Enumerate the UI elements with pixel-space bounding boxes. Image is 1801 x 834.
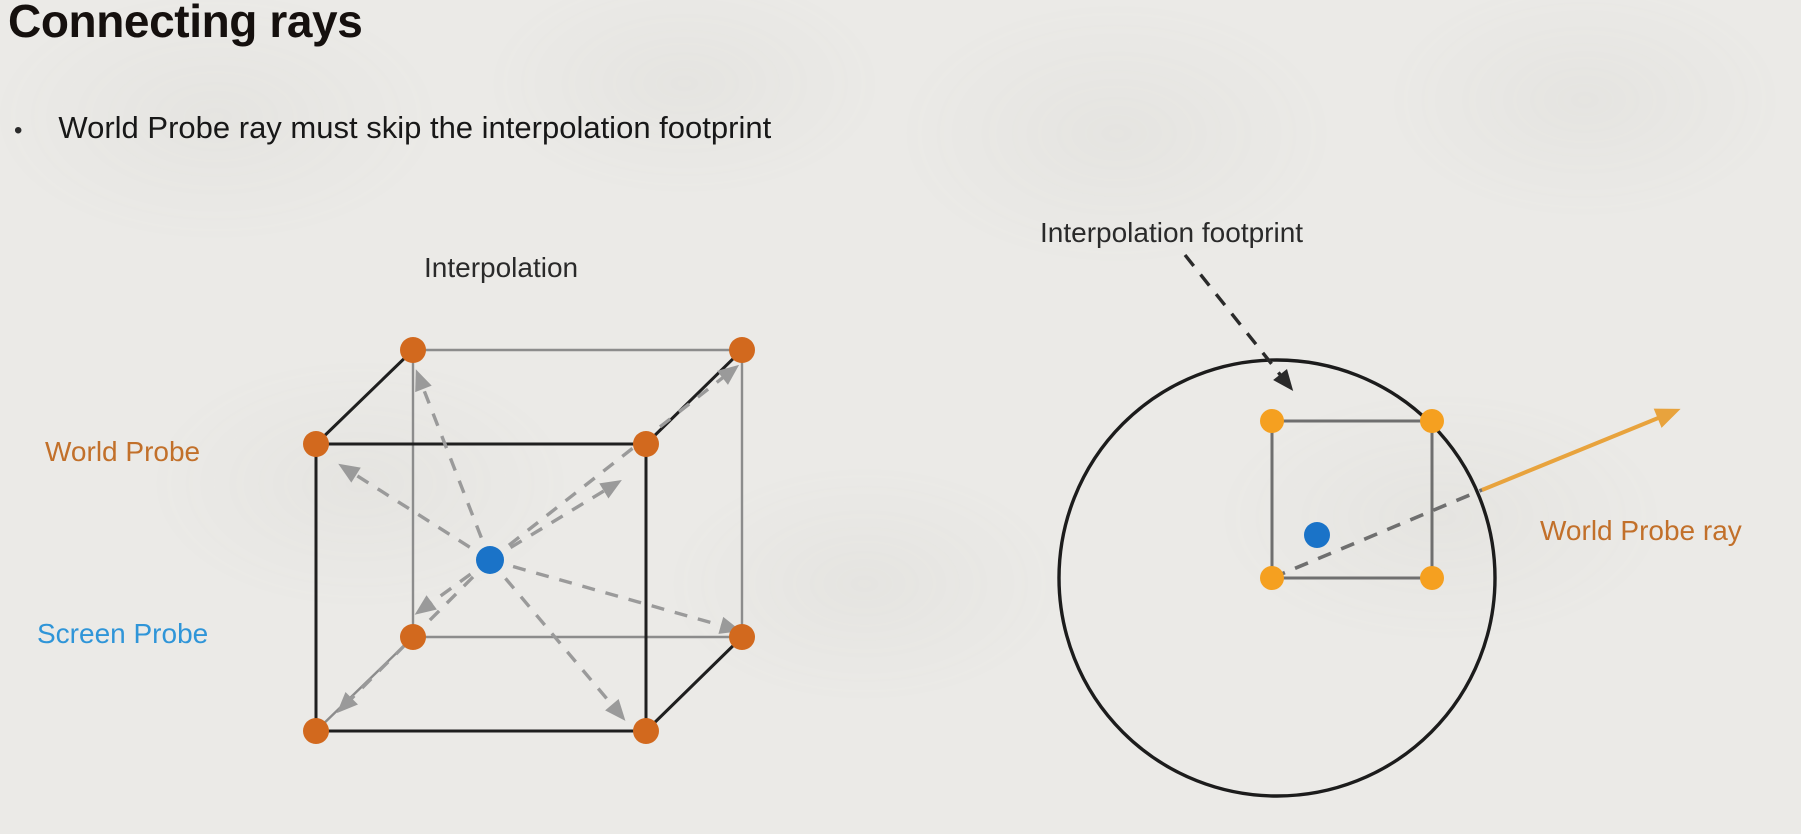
interpolation-ray-set (345, 372, 730, 712)
world-probe-ray-arrow (1482, 414, 1668, 490)
world-probe-dot (729, 337, 755, 363)
world-probe-dot (400, 337, 426, 363)
cube-visible-edges (316, 350, 742, 731)
world-probe-dot (1420, 409, 1444, 433)
world-probe-dot (729, 624, 755, 650)
world-probe-dot (633, 431, 659, 457)
cube-corner-dots (303, 337, 755, 744)
world-probe-dot (400, 624, 426, 650)
world-probe-dot (633, 718, 659, 744)
world-probe-dot (1260, 409, 1284, 433)
world-probe-dot (1420, 566, 1444, 590)
world-probe-dot (303, 431, 329, 457)
footprint-square-edges (1272, 421, 1432, 578)
slide-canvas: Connecting rays • World Probe ray must s… (0, 0, 1801, 834)
screen-probe-dot (476, 546, 504, 574)
world-probe-dashed-segment (1272, 489, 1484, 578)
footprint-corner-dots (1260, 409, 1444, 590)
cube-hidden-edges (316, 350, 742, 731)
world-probe-dot (303, 718, 329, 744)
world-probe-dot (1260, 566, 1284, 590)
screen-probe-dot (1304, 522, 1330, 548)
diagram-vector-layer (0, 0, 1801, 834)
